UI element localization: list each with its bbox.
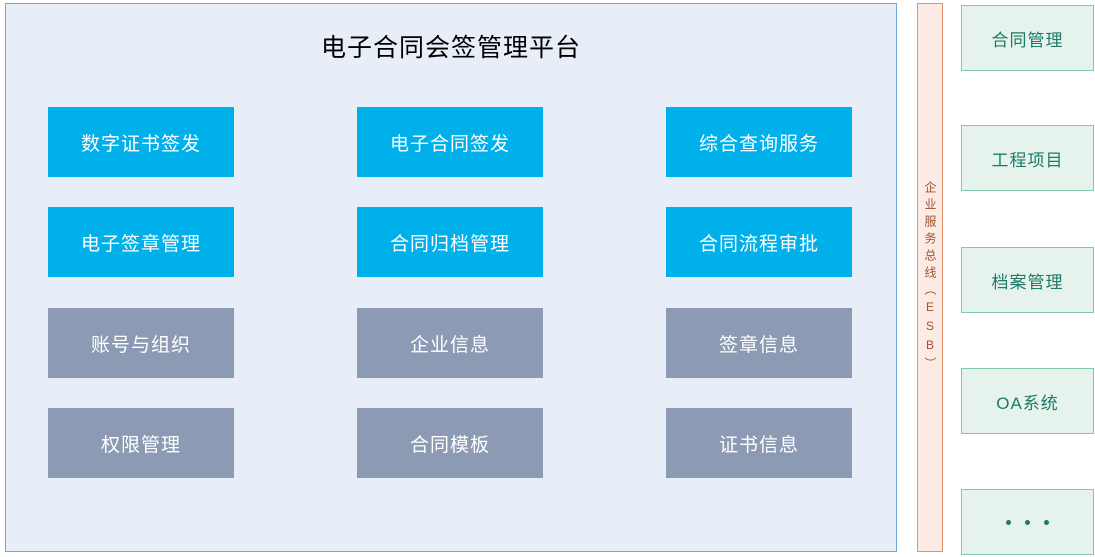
ellipsis-dot	[1006, 520, 1011, 525]
external-systems-column: 合同管理 工程项目 档案管理 OA系统	[960, 0, 1095, 557]
module-box-contract-workflow-approval[interactable]: 合同流程审批	[666, 207, 852, 277]
system-box-oa-system[interactable]: OA系统	[961, 368, 1094, 434]
module-label: 综合查询服务	[699, 129, 819, 156]
system-label: OA系统	[996, 389, 1059, 414]
module-label: 数字证书签发	[81, 129, 201, 156]
ellipsis-dot	[1044, 520, 1049, 525]
module-box-certificate-info[interactable]: 证书信息	[666, 408, 852, 478]
module-box-econtract-issuance[interactable]: 电子合同签发	[357, 107, 543, 177]
module-box-account-and-organization[interactable]: 账号与组织	[48, 308, 234, 378]
module-box-eseal-management[interactable]: 电子签章管理	[48, 207, 234, 277]
system-label: 档案管理	[992, 268, 1064, 293]
module-label: 账号与组织	[91, 330, 191, 357]
ellipsis-dot	[1025, 520, 1030, 525]
module-box-contract-template[interactable]: 合同模板	[357, 408, 543, 478]
system-label: 合同管理	[992, 26, 1064, 51]
page-title: 电子合同会签管理平台	[6, 28, 896, 64]
system-box-more-ellipsis[interactable]	[961, 489, 1094, 555]
module-label: 签章信息	[719, 330, 799, 357]
module-box-permission-management[interactable]: 权限管理	[48, 408, 234, 478]
module-box-seal-info[interactable]: 签章信息	[666, 308, 852, 378]
module-label: 权限管理	[101, 430, 181, 457]
module-label: 电子合同签发	[390, 129, 510, 156]
module-label: 合同归档管理	[390, 229, 510, 256]
enterprise-service-bus: 企业服务总线（ESB）	[917, 3, 943, 552]
module-box-digital-certificate-issuance[interactable]: 数字证书签发	[48, 107, 234, 177]
module-box-contract-archive-management[interactable]: 合同归档管理	[357, 207, 543, 277]
module-label: 合同模板	[410, 430, 490, 457]
system-box-archive-management[interactable]: 档案管理	[961, 247, 1094, 313]
module-grid: 数字证书签发 电子合同签发 综合查询服务 电子签章管理 合同归档管理 合同流程审…	[6, 107, 896, 507]
system-box-engineering-project[interactable]: 工程项目	[961, 125, 1094, 191]
ellipsis-icon	[1006, 520, 1049, 525]
module-label: 企业信息	[410, 330, 490, 357]
module-label: 证书信息	[719, 430, 799, 457]
esb-label: 企业服务总线（ESB）	[921, 181, 939, 374]
platform-panel: 电子合同会签管理平台 数字证书签发 电子合同签发 综合查询服务 电子签章管理 合…	[5, 3, 897, 552]
system-label: 工程项目	[992, 146, 1064, 171]
module-label: 合同流程审批	[699, 229, 819, 256]
module-box-enterprise-info[interactable]: 企业信息	[357, 308, 543, 378]
system-box-contract-management[interactable]: 合同管理	[961, 5, 1094, 71]
module-box-integrated-query-service[interactable]: 综合查询服务	[666, 107, 852, 177]
module-label: 电子签章管理	[81, 229, 201, 256]
